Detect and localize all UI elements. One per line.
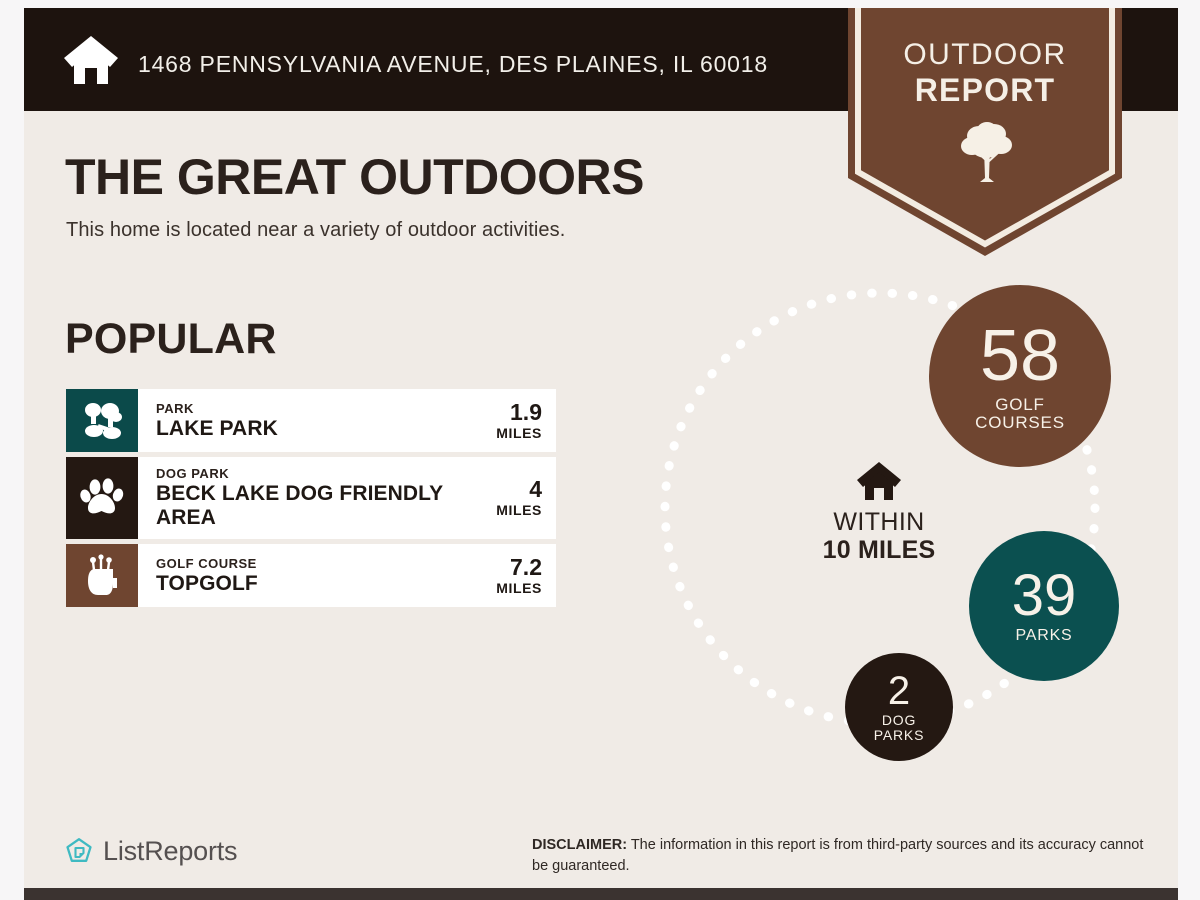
list-item-distance: 1.9 MILES (446, 389, 556, 452)
stat-bubble-parks[interactable]: 39 PARKS (969, 531, 1119, 681)
stat-label-line2: PARKS (874, 728, 924, 743)
list-item-name: TOPGOLF (156, 572, 446, 596)
stat-label-line1: PARKS (1015, 628, 1072, 645)
paw-icon (66, 457, 138, 539)
within-label-line1: WITHIN (789, 508, 969, 536)
list-item-distance: 4 MILES (446, 457, 556, 539)
trees-icon (66, 389, 138, 452)
listreports-logo-icon (64, 837, 94, 867)
list-item-text: PARK LAKE PARK (138, 389, 446, 452)
bottom-strip (24, 888, 1178, 900)
disclaimer-label: DISCLAIMER: (532, 837, 627, 853)
amenities-diagram: 58 GOLF COURSES 39 PARKS 2 DOG PARKS (624, 258, 1178, 798)
listreports-logo[interactable]: ListReports (64, 836, 237, 867)
home-icon (62, 34, 120, 86)
popular-list: PARK LAKE PARK 1.9 MILES (66, 389, 556, 612)
list-item-name: LAKE PARK (156, 417, 446, 441)
stat-bubble-dog-parks[interactable]: 2 DOG PARKS (845, 653, 953, 761)
report-canvas: 1468 PENNSYLVANIA AVENUE, DES PLAINES, I… (24, 8, 1178, 892)
distance-value: 1.9 (510, 400, 542, 425)
list-item-category: DOG PARK (156, 466, 446, 482)
list-item-text: DOG PARK BECK LAKE DOG FRIENDLY AREA (138, 457, 446, 539)
distance-unit: MILES (496, 580, 542, 597)
list-item[interactable]: GOLF COURSE TOPGOLF 7.2 MILES (66, 544, 556, 607)
distance-value: 4 (529, 477, 542, 502)
disclaimer: DISCLAIMER: The information in this repo… (532, 835, 1147, 877)
golf-bag-icon (66, 544, 138, 607)
section-heading-popular: POPULAR (65, 315, 277, 364)
list-item-category: GOLF COURSE (156, 556, 446, 572)
listreports-logo-text: ListReports (103, 836, 237, 867)
stat-value: 39 (1012, 567, 1077, 625)
infographic-page: 1468 PENNSYLVANIA AVENUE, DES PLAINES, I… (0, 0, 1200, 900)
distance-unit: MILES (496, 425, 542, 442)
list-item-distance: 7.2 MILES (446, 544, 556, 607)
list-item-name: BECK LAKE DOG FRIENDLY AREA (156, 482, 446, 530)
outdoor-report-banner: OUTDOOR REPORT (848, 8, 1122, 256)
tree-icon (961, 122, 1013, 184)
stat-label-line1: DOG (882, 713, 916, 728)
page-subtitle: This home is located near a variety of o… (66, 219, 565, 242)
list-item-category: PARK (156, 401, 446, 417)
stat-label-line1: GOLF (995, 396, 1045, 414)
stat-value: 58 (980, 320, 1060, 392)
stat-label-line2: COURSES (975, 414, 1065, 432)
property-address: 1468 PENNSYLVANIA AVENUE, DES PLAINES, I… (138, 51, 768, 78)
page-title: THE GREAT OUTDOORS (65, 149, 644, 205)
within-radius-block: WITHIN 10 MILES (789, 461, 969, 564)
list-item[interactable]: DOG PARK BECK LAKE DOG FRIENDLY AREA 4 M… (66, 457, 556, 539)
stat-bubble-golf-courses[interactable]: 58 GOLF COURSES (929, 285, 1111, 467)
home-icon (856, 461, 902, 501)
distance-value: 7.2 (510, 555, 542, 580)
within-label-line2: 10 MILES (789, 536, 969, 564)
stat-value: 2 (888, 671, 910, 711)
list-item-text: GOLF COURSE TOPGOLF (138, 544, 446, 607)
list-item[interactable]: PARK LAKE PARK 1.9 MILES (66, 389, 556, 452)
distance-unit: MILES (496, 502, 542, 519)
